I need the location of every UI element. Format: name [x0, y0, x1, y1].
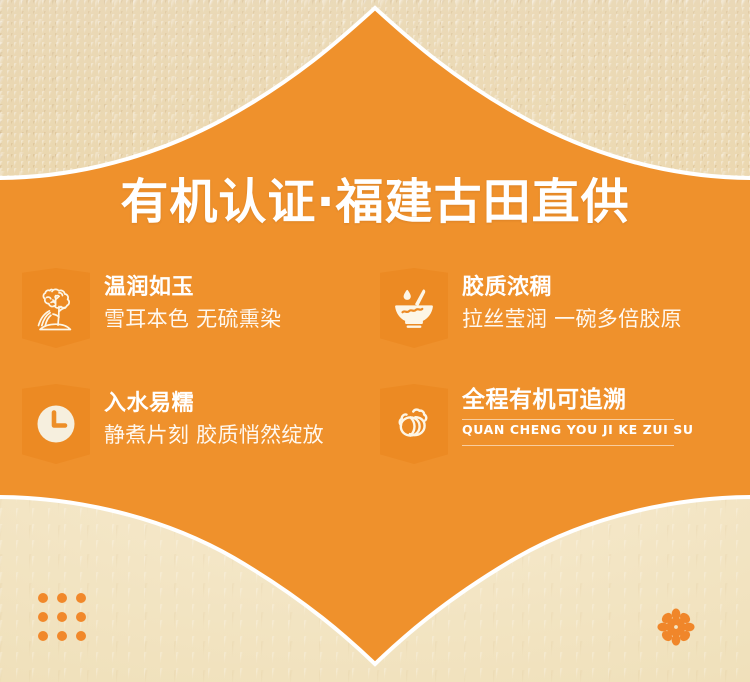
clock-icon	[22, 384, 90, 464]
dot	[76, 631, 86, 641]
feature-text-2: 胶质浓稠 拉丝莹润 一碗多倍胶原	[462, 268, 682, 334]
feature-list: 温润如玉 雪耳本色 无硫熏染 胶质浓稠 拉丝莹润 一碗多倍胶原	[22, 268, 728, 500]
dot	[57, 612, 67, 622]
feature-pinyin: QUAN CHENG YOU JI KE ZUI SU	[462, 420, 674, 440]
feature-title: 入水易糯	[104, 390, 324, 418]
dot-grid-ornament	[38, 593, 86, 641]
dot	[38, 612, 48, 622]
dot	[76, 593, 86, 603]
feature-text-3: 入水易糯 静煮片刻 胶质悄然绽放	[104, 384, 324, 450]
feature-item-3: 入水易糯 静煮片刻 胶质悄然绽放	[22, 384, 380, 500]
dot	[57, 593, 67, 603]
feature-title: 温润如玉	[104, 274, 281, 302]
feature-title: 全程有机可追溯	[462, 386, 674, 414]
feature-title: 胶质浓稠	[462, 274, 682, 302]
page-title: 有机认证·福建古田直供	[0, 172, 750, 232]
feature-subtitle: 拉丝莹润 一碗多倍胶原	[462, 304, 682, 334]
feature-item-1: 温润如玉 雪耳本色 无硫熏染	[22, 268, 380, 384]
flower-bud-icon	[380, 384, 448, 464]
dot	[38, 631, 48, 641]
tree-icon	[22, 268, 90, 348]
feature-text-1: 温润如玉 雪耳本色 无硫熏染	[104, 268, 281, 334]
feature-item-4: 全程有机可追溯 QUAN CHENG YOU JI KE ZUI SU	[380, 384, 728, 500]
mortar-pestle-icon	[380, 268, 448, 348]
dot	[76, 612, 86, 622]
dot	[38, 593, 48, 603]
dot	[57, 631, 67, 641]
feature-subtitle: 雪耳本色 无硫熏染	[104, 304, 281, 334]
rosette-flower-ornament	[657, 608, 695, 646]
promo-banner: 有机认证·福建古田直供 温润如玉 雪耳本色 无硫熏染	[0, 0, 750, 682]
feature-text-4: 全程有机可追溯 QUAN CHENG YOU JI KE ZUI SU	[462, 384, 674, 446]
feature-subtitle: 静煮片刻 胶质悄然绽放	[104, 420, 324, 450]
divider	[462, 445, 674, 446]
feature-item-2: 胶质浓稠 拉丝莹润 一碗多倍胶原	[380, 268, 728, 384]
